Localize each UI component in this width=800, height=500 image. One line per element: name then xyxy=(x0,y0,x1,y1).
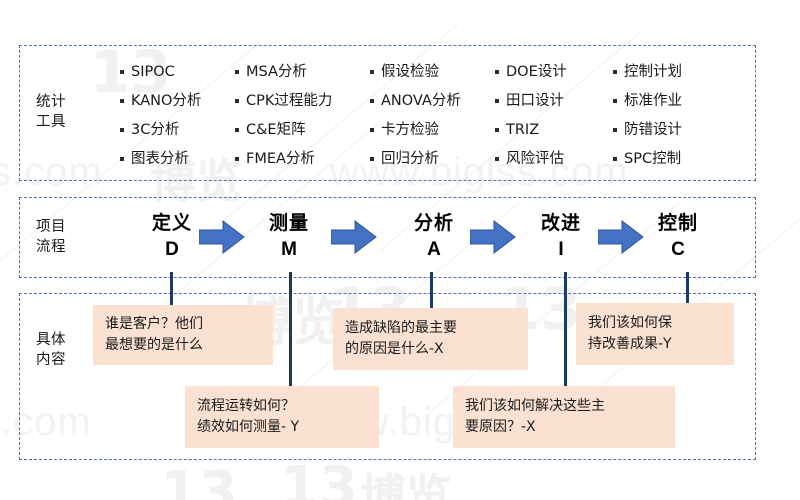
tool-item[interactable]: 图表分析 xyxy=(120,152,235,167)
bullet-icon xyxy=(120,157,124,161)
tool-item[interactable]: 田口设计 xyxy=(495,94,613,109)
tool-label: SPC控制 xyxy=(624,152,681,167)
bullet-icon xyxy=(613,99,617,103)
connector-analyze xyxy=(430,272,433,310)
bullet-icon xyxy=(613,70,617,74)
phase-analyze-cn: 分析 xyxy=(402,212,466,235)
phase-define-cn: 定义 xyxy=(140,212,204,235)
watermark-logo: 13 xyxy=(160,460,238,500)
connector-improve xyxy=(564,272,567,389)
bullet-icon xyxy=(235,70,239,74)
tool-label: 3C分析 xyxy=(131,123,179,138)
tool-label: CPK过程能力 xyxy=(246,94,332,109)
diagram-canvas: ss.com www.biglss.com 博览 13 13 13 博览 s.c… xyxy=(0,0,800,500)
tool-label: 图表分析 xyxy=(131,152,189,167)
bullet-icon xyxy=(120,70,124,74)
tool-item[interactable]: 风险评估 xyxy=(495,152,613,167)
bullet-icon xyxy=(370,99,374,103)
bullet-icon xyxy=(370,70,374,74)
phase-analyze[interactable]: 分析 A xyxy=(402,212,466,261)
watermark-logo: 13 xyxy=(280,455,358,500)
phase-control-cn: 控制 xyxy=(646,212,710,235)
callout-control[interactable]: 我们该如何保 持改善成果-Y xyxy=(576,303,734,365)
tool-item[interactable]: 回归分析 xyxy=(370,152,495,167)
bullet-icon xyxy=(235,157,239,161)
bullet-icon xyxy=(120,128,124,132)
arrow-define-to-measure xyxy=(199,220,245,254)
specific-content-label: 具体 内容 xyxy=(36,330,66,370)
tool-label: SIPOC xyxy=(131,65,175,80)
tool-label: 卡方检验 xyxy=(381,123,439,138)
bullet-icon xyxy=(235,99,239,103)
phase-control-en: C xyxy=(646,238,710,261)
tool-item[interactable]: KANO分析 xyxy=(120,94,235,109)
bullet-icon xyxy=(120,99,124,103)
tool-label: FMEA分析 xyxy=(246,152,315,167)
tool-item[interactable]: 防错设计 xyxy=(613,123,723,138)
bullet-icon xyxy=(613,128,617,132)
tool-item[interactable]: TRIZ xyxy=(495,123,613,138)
phase-measure[interactable]: 测量 M xyxy=(257,212,321,261)
tool-label: C&E矩阵 xyxy=(246,123,306,138)
tool-item[interactable]: 卡方检验 xyxy=(370,123,495,138)
tool-item[interactable]: 3C分析 xyxy=(120,123,235,138)
tool-label: 防错设计 xyxy=(624,123,682,138)
tool-label: 风险评估 xyxy=(506,152,564,167)
tool-item[interactable]: C&E矩阵 xyxy=(235,123,370,138)
bullet-icon xyxy=(370,157,374,161)
callout-define[interactable]: 谁是客户？他们 最想要的是什么 xyxy=(93,305,273,365)
tool-item[interactable]: MSA分析 xyxy=(235,65,370,80)
tool-item[interactable]: SIPOC xyxy=(120,65,235,80)
tool-item[interactable]: DOE设计 xyxy=(495,65,613,80)
tool-label: TRIZ xyxy=(506,123,539,138)
bullet-icon xyxy=(235,128,239,132)
callout-analyze[interactable]: 造成缺陷的最主要 的原因是什么-X xyxy=(333,308,528,370)
tool-label: ANOVA分析 xyxy=(381,94,461,109)
bullet-icon xyxy=(495,157,499,161)
bullet-icon xyxy=(613,157,617,161)
watermark-brand: 博览 xyxy=(360,460,452,500)
phase-improve-en: I xyxy=(529,238,593,261)
tool-item[interactable]: 标准作业 xyxy=(613,94,723,109)
phase-measure-cn: 测量 xyxy=(257,212,321,235)
phase-analyze-en: A xyxy=(402,238,466,261)
tool-label: 回归分析 xyxy=(381,152,439,167)
tool-item[interactable]: SPC控制 xyxy=(613,152,723,167)
tool-item[interactable]: FMEA分析 xyxy=(235,152,370,167)
project-process-label: 项目 流程 xyxy=(36,217,66,257)
tool-label: 假设检验 xyxy=(381,65,439,80)
arrow-improve-to-control xyxy=(598,220,644,254)
phase-measure-en: M xyxy=(257,238,321,261)
connector-define xyxy=(170,272,173,308)
tool-item[interactable]: 假设检验 xyxy=(370,65,495,80)
connector-control xyxy=(686,272,689,306)
callout-measure[interactable]: 流程运转如何？ 绩效如何测量- Y xyxy=(185,386,379,448)
statistical-tools-label: 统计 工具 xyxy=(36,92,66,132)
tool-label: 标准作业 xyxy=(624,94,682,109)
connector-measure xyxy=(289,272,292,390)
phase-control[interactable]: 控制 C xyxy=(646,212,710,261)
tool-item[interactable]: 控制计划 xyxy=(613,65,723,80)
phase-define[interactable]: 定义 D xyxy=(140,212,204,261)
tool-label: DOE设计 xyxy=(506,65,567,80)
tool-label: 控制计划 xyxy=(624,65,682,80)
tool-label: 田口设计 xyxy=(506,94,564,109)
statistical-tools-grid: SIPOC MSA分析 假设检验 DOE设计 控制计划 KANO分析 CPK过程… xyxy=(120,58,760,174)
phase-improve[interactable]: 改进 I xyxy=(529,212,593,261)
bullet-icon xyxy=(495,99,499,103)
tool-label: MSA分析 xyxy=(246,65,307,80)
bullet-icon xyxy=(370,128,374,132)
phase-define-en: D xyxy=(140,238,204,261)
arrow-analyze-to-improve xyxy=(470,220,516,254)
callout-improve[interactable]: 我们该如何解决这些主 要原因？-X xyxy=(453,386,675,448)
arrow-measure-to-analyze xyxy=(331,220,377,254)
bullet-icon xyxy=(495,128,499,132)
bullet-icon xyxy=(495,70,499,74)
tool-item[interactable]: CPK过程能力 xyxy=(235,94,370,109)
tool-label: KANO分析 xyxy=(131,94,201,109)
phase-improve-cn: 改进 xyxy=(529,212,593,235)
tool-item[interactable]: ANOVA分析 xyxy=(370,94,495,109)
